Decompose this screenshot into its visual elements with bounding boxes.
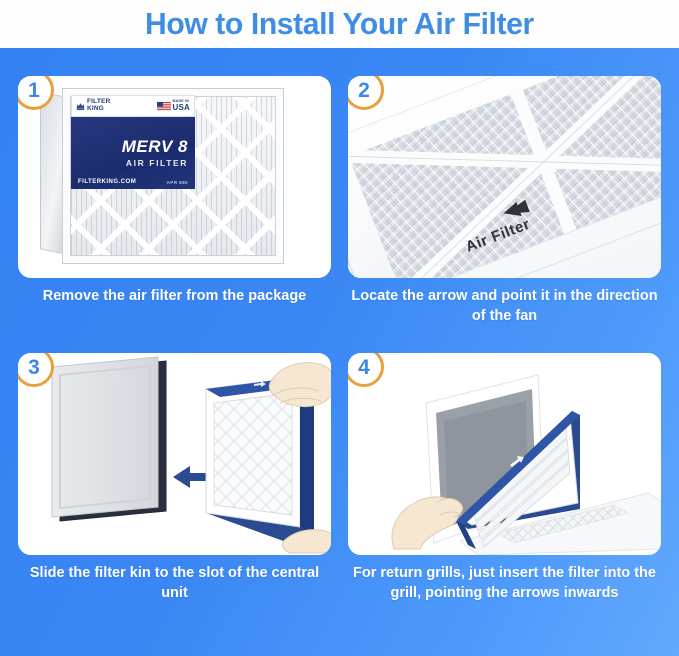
step-3-caption: Slide the filter kin to the slot of the …: [18, 564, 331, 603]
merv-rating: MERV 8: [122, 138, 188, 155]
made-in-usa-text: MADE IN USA: [173, 100, 191, 112]
hand-holding-grill: [392, 497, 462, 549]
step-4-caption: For return grills, just insert the filte…: [348, 564, 661, 603]
step-2-card: Air Filter 2: [348, 76, 661, 278]
step-3-card: 3: [18, 353, 331, 555]
step-4-illustration: [348, 353, 661, 555]
step-3: 3 Slide the filter kin to the slot of th…: [18, 353, 338, 603]
filter-front-face: FILTER KING: [62, 88, 284, 264]
step-4: 4 For return grills, just insert the fil…: [348, 353, 668, 603]
step-2-number: 2: [358, 80, 370, 101]
label-footer-strip: FILTERKING.COM APR 650: [71, 179, 195, 189]
air-filter-product-image: FILTER KING: [40, 88, 310, 270]
step-1-caption: Remove the air filter from the package: [18, 287, 331, 307]
label-navy-panel: MERV 8 AIR FILTER FILTERKING.COM APR 650: [71, 117, 195, 189]
step-1: FILTER KING: [18, 76, 338, 307]
brand-name: FILTER KING: [87, 99, 110, 112]
made-in-usa-badge: MADE IN USA: [157, 100, 191, 112]
filter-closeup-graphic: Air Filter: [348, 76, 661, 278]
usa-flag-icon: [157, 102, 171, 111]
step-4-number: 4: [358, 357, 370, 378]
brand-website: FILTERKING.COM: [78, 179, 136, 185]
product-type: AIR FILTER: [126, 158, 188, 168]
step-2-illustration: Air Filter: [348, 76, 661, 278]
title-band: How to Install Your Air Filter: [0, 0, 679, 48]
steps-grid: FILTER KING: [0, 48, 679, 656]
step-3-illustration: [18, 353, 331, 555]
brand-lockup: FILTER KING: [76, 99, 110, 112]
central-unit: [52, 357, 166, 521]
step-4-card: 4: [348, 353, 661, 555]
step-1-card: FILTER KING: [18, 76, 331, 278]
label-header-strip: FILTER KING: [71, 95, 195, 117]
step-1-illustration: FILTER KING: [18, 76, 331, 278]
filter-product-label: FILTER KING: [71, 95, 195, 189]
crown-icon: [76, 102, 85, 111]
page-title: How to Install Your Air Filter: [145, 6, 534, 42]
step-3-number: 3: [28, 357, 40, 378]
infographic-root: How to Install Your Air Filter: [0, 0, 679, 656]
step-2-caption: Locate the arrow and point it in the dir…: [348, 287, 661, 326]
filter-into-unit-graphic: [18, 353, 331, 555]
filter-into-grill-graphic: [348, 353, 661, 555]
step-2: Air Filter 2 Locate the arrow and point …: [348, 76, 668, 326]
apr-rating: APR 650: [167, 180, 188, 185]
step-1-number: 1: [28, 80, 40, 101]
